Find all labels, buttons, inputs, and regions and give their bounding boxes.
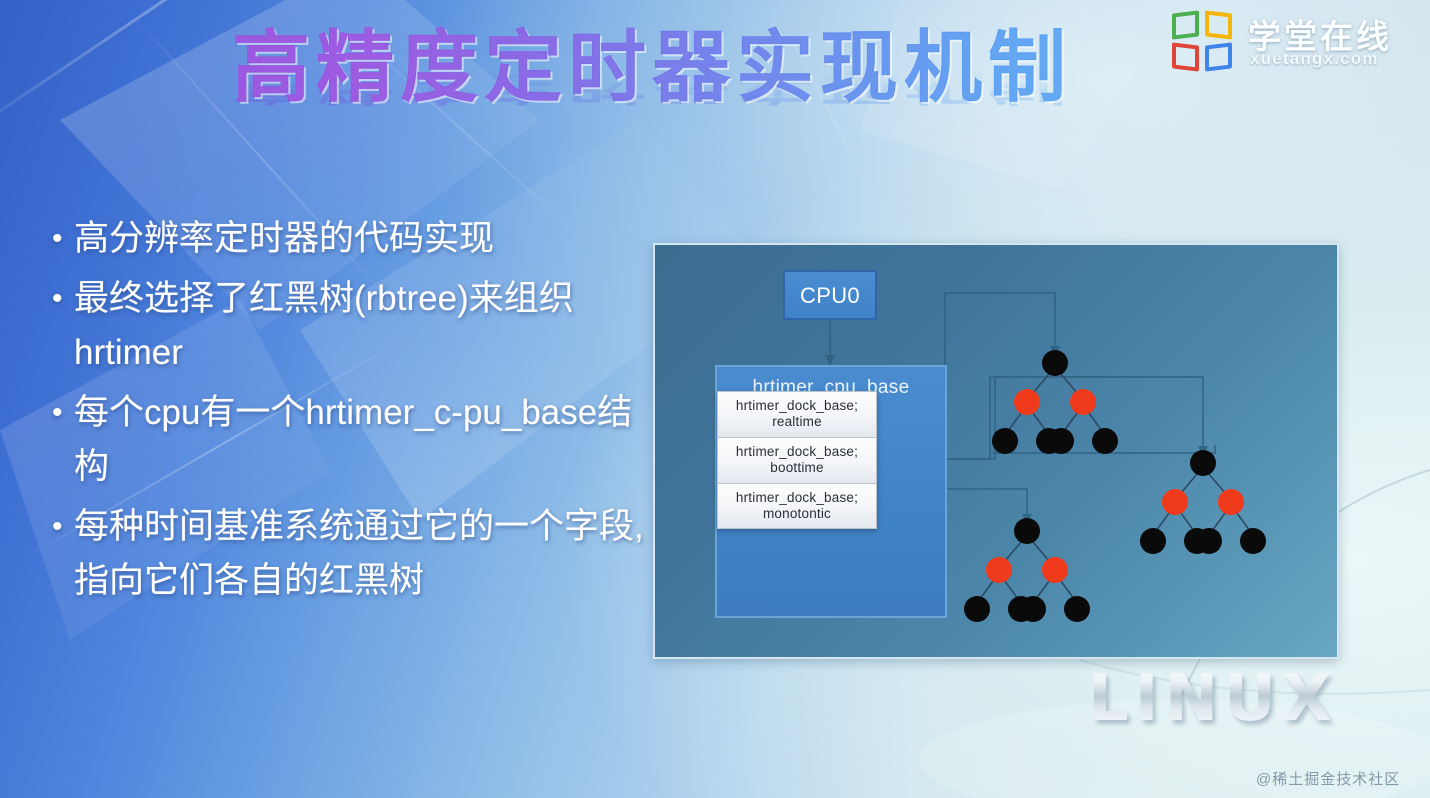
bullet-list: • 高分辨率定时器的代码实现 • 最终选择了红黑树(rbtree)来组织hrti… — [52, 212, 652, 614]
bullet-text: 每种时间基准系统通过它的一个字段,指向它们各自的红黑树 — [74, 500, 652, 608]
xuetangx-logo-icon — [1172, 12, 1236, 74]
dock-base-monotontic[interactable]: hrtimer_dock_base; monotontic — [717, 483, 877, 529]
dock-line1: hrtimer_dock_base; — [736, 490, 858, 505]
dock-base-realtime[interactable]: hrtimer_dock_base; realtime — [717, 391, 877, 437]
bullet-marker-icon: • — [52, 386, 74, 440]
bullet-text: 高分辨率定时器的代码实现 — [74, 212, 494, 266]
rbtree-realtime — [992, 350, 1118, 454]
brand-name-en: xuetangx.com — [1250, 49, 1379, 69]
credit-watermark: @稀土掘金技术社区 — [1256, 768, 1400, 789]
diagram-panel: CPU0 hrtimer_cpu_base hrtimer_dock_base;… — [653, 243, 1339, 659]
cpu0-box[interactable]: CPU0 — [783, 270, 877, 320]
linux-watermark: LINUX — [1088, 662, 1406, 728]
list-item: • 每个cpu有一个hrtimer_c-pu_base结构 — [52, 386, 652, 494]
slide-title-block: 高精度定时器实现机制 高精度定时器实现机制 — [232, 22, 1152, 157]
list-item: • 高分辨率定时器的代码实现 — [52, 212, 652, 266]
dock-line2: boottime — [718, 460, 876, 476]
dock-line2: monotontic — [718, 506, 876, 522]
slide-canvas: 学堂在线 xuetangx.com 高精度定时器实现机制 高精度定时器实现机制 … — [0, 0, 1430, 798]
rbtree-boottime — [1140, 450, 1266, 554]
slide-title: 高精度定时器实现机制 — [232, 22, 1152, 114]
bullet-text: 每个cpu有一个hrtimer_c-pu_base结构 — [74, 386, 652, 494]
dock-line1: hrtimer_dock_base; — [736, 398, 858, 413]
dock-line1: hrtimer_dock_base; — [736, 444, 858, 459]
rbtree-monotontic — [964, 518, 1090, 622]
bullet-marker-icon: • — [52, 212, 74, 266]
bullet-text: 最终选择了红黑树(rbtree)来组织hrtimer — [74, 272, 652, 380]
hrtimer-dock-base-list: hrtimer_dock_base; realtime hrtimer_dock… — [717, 391, 877, 529]
dock-line2: realtime — [718, 414, 876, 430]
dock-base-boottime[interactable]: hrtimer_dock_base; boottime — [717, 437, 877, 483]
bullet-marker-icon: • — [52, 272, 74, 326]
bullet-marker-icon: • — [52, 500, 74, 554]
list-item: • 最终选择了红黑树(rbtree)来组织hrtimer — [52, 272, 652, 380]
brand-logo: 学堂在线 xuetangx.com — [1172, 8, 1422, 78]
list-item: • 每种时间基准系统通过它的一个字段,指向它们各自的红黑树 — [52, 500, 652, 608]
